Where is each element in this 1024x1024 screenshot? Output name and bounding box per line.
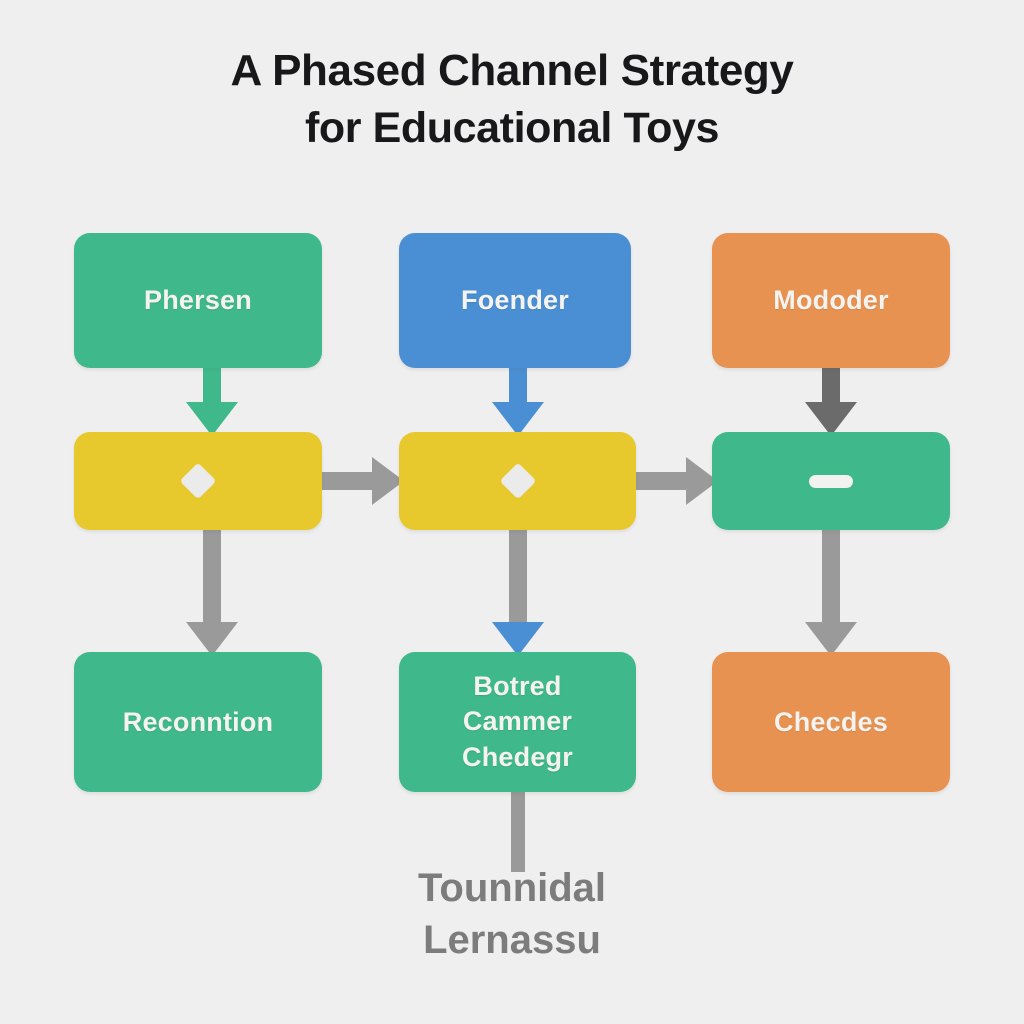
node-label: Reconntion — [113, 706, 284, 739]
conn-gate-right-to-checdes — [805, 528, 857, 656]
diamond-icon — [499, 463, 536, 500]
gate-right[interactable] — [712, 432, 950, 530]
conn-gate-left-to-gate-middle — [320, 457, 404, 505]
node-botred[interactable]: BotredCammerChedegr — [399, 652, 636, 792]
node-label-line: Chedegr — [462, 740, 573, 775]
diamond-icon — [180, 463, 217, 500]
connector-shaft — [511, 788, 525, 872]
node-foender[interactable]: Foender — [399, 233, 631, 368]
dash-icon — [809, 475, 853, 488]
node-label: Mododer — [763, 284, 898, 317]
connector-shaft — [320, 472, 374, 490]
connector-arrowhead — [186, 622, 238, 656]
node-label: Phersen — [134, 284, 262, 317]
footer-caption-line-2: Lernassu — [0, 914, 1024, 966]
connector-arrowhead — [492, 622, 544, 656]
gate-middle[interactable] — [399, 432, 636, 530]
node-reconntion[interactable]: Reconntion — [74, 652, 322, 792]
page-title: A Phased Channel Strategy for Educationa… — [0, 42, 1024, 157]
conn-botred-to-caption — [502, 788, 534, 870]
connector-arrowhead — [805, 622, 857, 656]
conn-gate-middle-to-botred — [492, 528, 544, 656]
gate-left[interactable] — [74, 432, 322, 530]
node-label: Foender — [451, 284, 579, 317]
conn-mododer-to-gate-right — [805, 366, 857, 436]
connector-arrowhead — [805, 402, 857, 436]
footer-caption: Tounnidal Lernassu — [0, 862, 1024, 966]
conn-phersen-to-gate-left — [186, 366, 238, 436]
connector-shaft — [203, 366, 221, 404]
connector-arrowhead — [186, 402, 238, 436]
connector-shaft — [634, 472, 688, 490]
connector-shaft — [203, 528, 221, 624]
page-title-line-2: for Educational Toys — [0, 100, 1024, 157]
node-label: Checdes — [764, 706, 898, 739]
node-mododer[interactable]: Mododer — [712, 233, 950, 368]
node-checdes[interactable]: Checdes — [712, 652, 950, 792]
conn-gate-middle-to-gate-right — [634, 457, 718, 505]
diagram-canvas: A Phased Channel Strategy for Educationa… — [0, 0, 1024, 1024]
node-phersen[interactable]: Phersen — [74, 233, 322, 368]
node-label: BotredCammerChedegr — [452, 669, 583, 774]
node-label-line: Cammer — [462, 704, 573, 739]
connector-shaft — [822, 528, 840, 624]
page-title-line-1: A Phased Channel Strategy — [0, 42, 1024, 100]
connector-arrowhead — [492, 402, 544, 436]
connector-shaft — [509, 528, 527, 624]
footer-caption-line-1: Tounnidal — [0, 862, 1024, 914]
conn-gate-left-to-reconntion — [186, 528, 238, 656]
connector-shaft — [509, 366, 527, 404]
connector-shaft — [822, 366, 840, 404]
node-label-line: Botred — [462, 669, 573, 704]
conn-foender-to-gate-middle — [492, 366, 544, 436]
